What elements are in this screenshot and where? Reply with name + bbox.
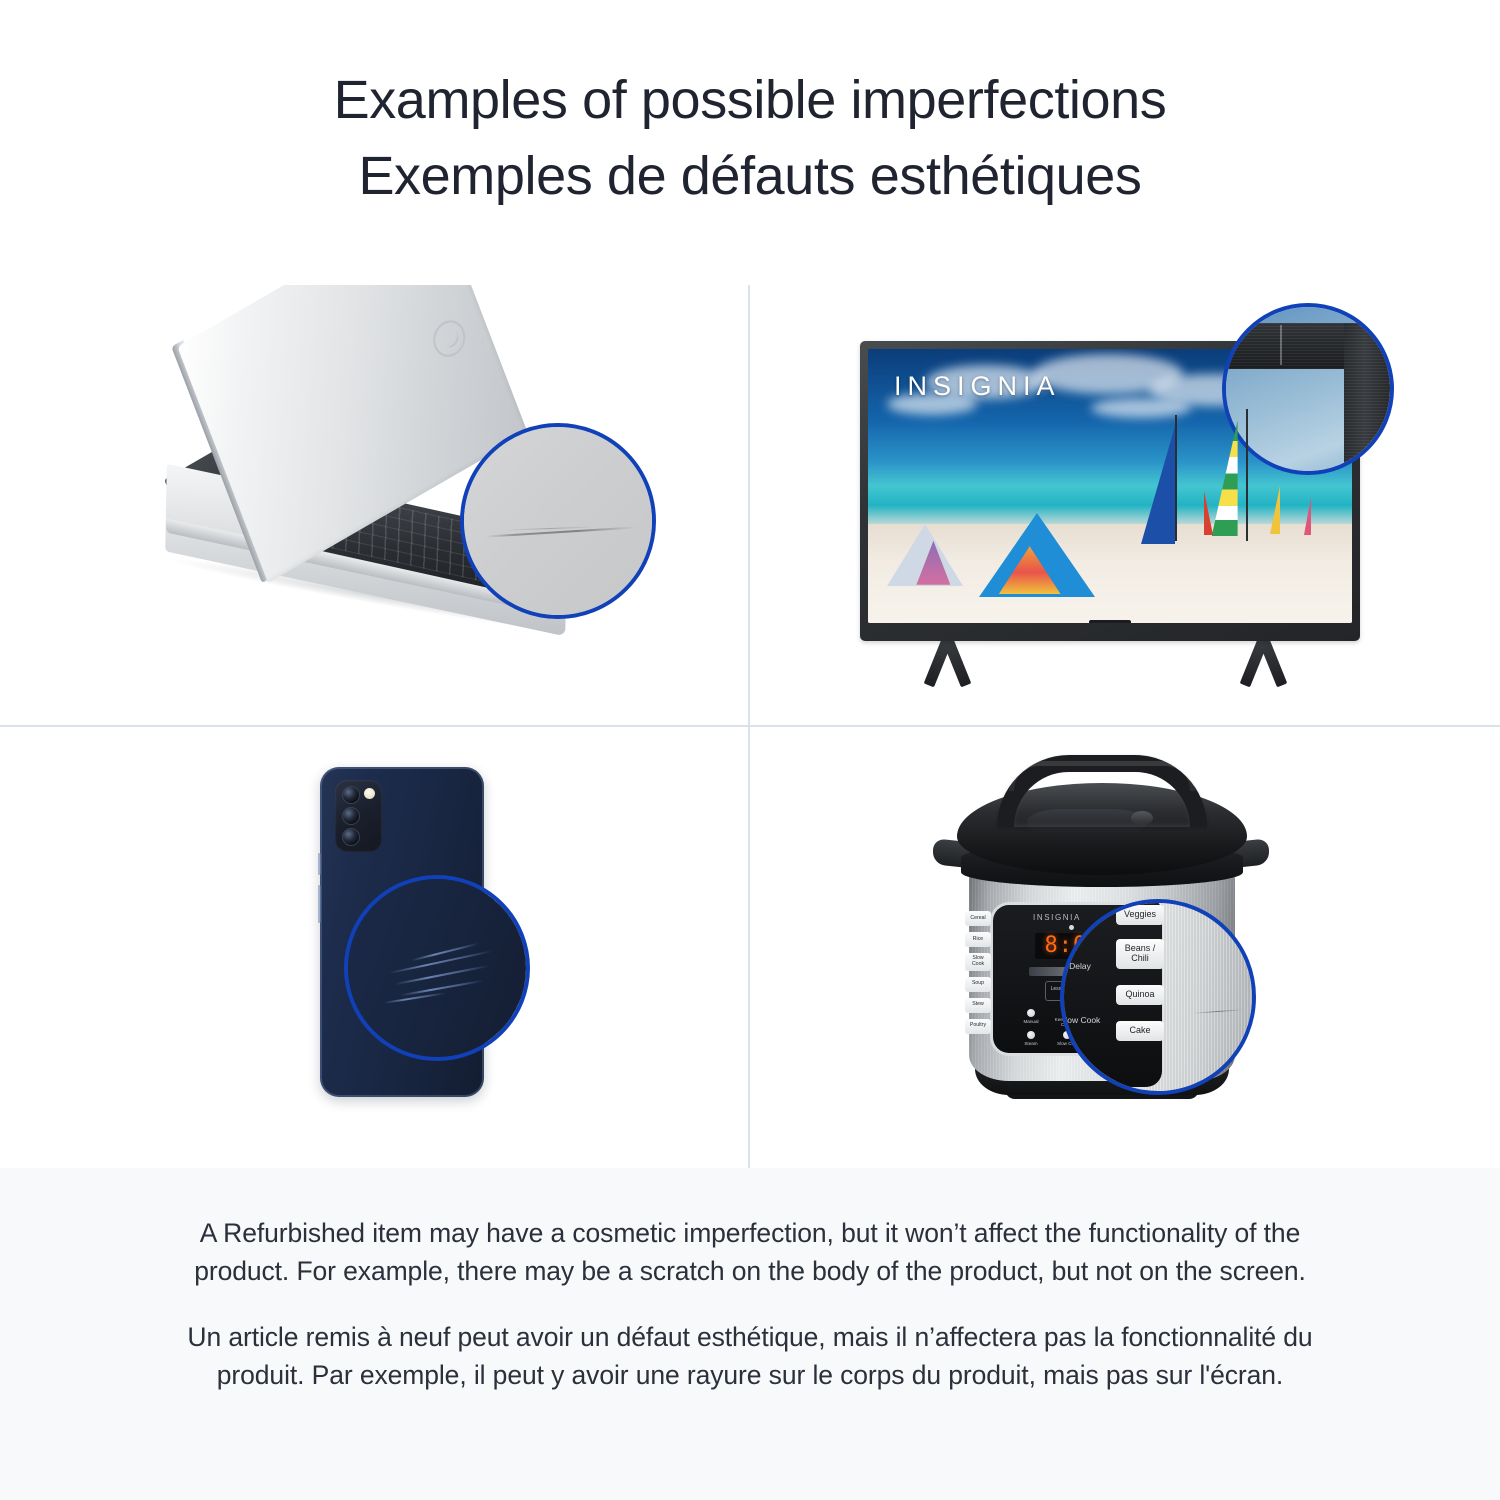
magnifier-laptop-scratch: [460, 423, 656, 619]
tv-magnified-bezel-corner: [1344, 323, 1394, 475]
phone-illustration: [268, 757, 568, 1137]
phone-camera-module: [335, 780, 382, 852]
tv-foot-right: [1228, 639, 1306, 689]
sail-red: [1204, 491, 1213, 535]
footer-description-panel: A Refurbished item may have a cosmetic i…: [0, 1168, 1500, 1500]
dell-logo-icon: [427, 313, 472, 363]
cooker-preset-button[interactable]: Soup: [965, 977, 991, 992]
cooker-magnified-side-button: Delay: [1060, 961, 1102, 971]
refurbished-imperfections-infographic: Examples of possible imperfections Exemp…: [0, 0, 1500, 1500]
cooker-key[interactable]: [1027, 1031, 1035, 1039]
cooker-magnified-side-button: Slow Cook: [1060, 1015, 1102, 1025]
magnifier-cooker-scratch: Delay Slow Cook Veggies Beans / Chili Qu…: [1060, 899, 1256, 1095]
cooker-preset-button[interactable]: Slow Cook: [965, 953, 991, 971]
bezel-texture: [1344, 323, 1394, 475]
sail-mast: [1246, 409, 1248, 541]
cooker-magnified-button: Beans / Chili: [1116, 939, 1164, 969]
camera-flash-icon: [364, 788, 375, 799]
cell-television: INSIGNIA: [750, 285, 1500, 725]
magnifier-tv-bezel-scuff: [1222, 303, 1394, 475]
footer-paragraph-english: A Refurbished item may have a cosmetic i…: [170, 1214, 1330, 1290]
tv-screen-logo: INSIGNIA: [894, 371, 1061, 402]
product-examples-grid: INSIGNIA: [0, 285, 1500, 1168]
cell-laptop: [0, 285, 748, 725]
page-title: Examples of possible imperfections Exemp…: [0, 62, 1500, 214]
cooker-key-label: Manual: [1016, 1019, 1046, 1024]
cell-smartphone: [0, 727, 748, 1168]
sail-mast: [1175, 415, 1177, 541]
title-line-english: Examples of possible imperfections: [0, 62, 1500, 138]
laptop-illustration: [150, 325, 690, 665]
cooker-magnified-button: Cake: [1116, 1021, 1164, 1041]
camera-lens-icon: [342, 807, 360, 825]
tv-illustration: INSIGNIA: [860, 303, 1390, 703]
tv-ir-module: [1089, 620, 1131, 623]
cooker-magnified-button: Quinoa: [1116, 985, 1164, 1005]
cell-pressure-cooker: INSIGNIA 8:00 Less Normal More M: [750, 727, 1500, 1168]
phone-magnified-surface: [348, 879, 526, 1057]
magnifier-phone-scratches: [344, 875, 530, 1061]
cooker-left-button-column: Cereal Rice Slow Cook Soup Stew Poultry: [965, 911, 991, 1034]
camera-lens-icon: [342, 828, 360, 846]
camera-lens-icon: [342, 786, 360, 804]
pressure-cooker-illustration: INSIGNIA 8:00 Less Normal More M: [935, 747, 1335, 1147]
title-line-french: Exemples de défauts esthétiques: [0, 138, 1500, 214]
cooker-preset-button[interactable]: Stew: [965, 998, 991, 1013]
cooker-preset-button[interactable]: Cereal: [965, 911, 991, 926]
cooker-key-label: Steam: [1016, 1041, 1046, 1046]
laptop-magnified-surface: [464, 427, 652, 615]
tv-foot-left: [912, 639, 990, 689]
tv-magnified-screen-edge: [1222, 365, 1348, 475]
footer-paragraph-french: Un article remis à neuf peut avoir un dé…: [170, 1318, 1330, 1394]
tv-scuff-mark: [1280, 325, 1282, 365]
sail-yellow: [1270, 486, 1280, 534]
phone-power-button: [318, 885, 321, 923]
sail-pink: [1304, 497, 1311, 535]
sail-blue: [1141, 426, 1175, 544]
cooker-preset-button[interactable]: Rice: [965, 932, 991, 947]
cooker-handle-highlight: [1009, 761, 1195, 791]
cooker-magnified-button: Veggies: [1116, 905, 1164, 925]
cooker-preset-button[interactable]: Poultry: [965, 1019, 991, 1034]
cooker-key[interactable]: [1027, 1009, 1035, 1017]
phone-volume-button: [318, 853, 321, 875]
